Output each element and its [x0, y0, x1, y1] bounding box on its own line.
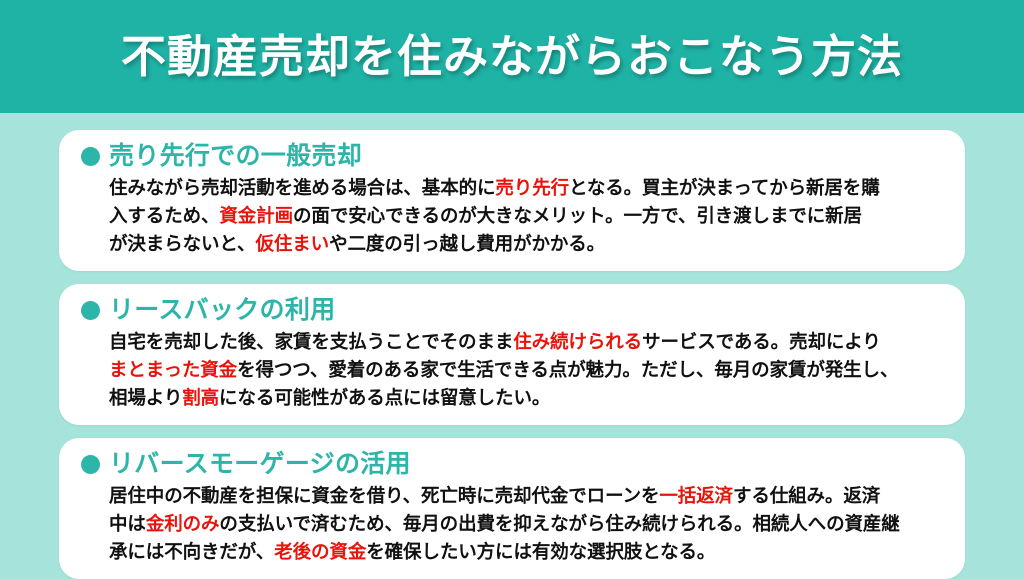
body-line: が決まらないと、仮住まいや二度の引っ越し費用がかかる。 [109, 230, 943, 258]
section-heading: リースバックの利用 [81, 296, 943, 325]
section-card: リバースモーゲージの活用居住中の不動産を担保に資金を借り、死亡時に売却代金でロー… [59, 438, 965, 579]
body-text-run: となる。買主が決まってから新居を購 [569, 177, 880, 198]
body-line: 自宅を売却した後、家賃を支払うことでそのまま住み続けられるサービスである。売却に… [109, 328, 943, 356]
body-text-run: の面で安心できるのが大きなメリット。一方で、引き渡しまでに新居 [293, 205, 862, 226]
body-text-run: する仕組み。返済 [733, 485, 880, 506]
body-text-run: 相場より [109, 387, 182, 408]
body-text-run: になる可能性がある点には留意したい。 [219, 387, 550, 408]
body-line: まとまった資金を得つつ、愛着のある家で生活できる点が魅力。ただし、毎月の家賃が発… [109, 356, 943, 384]
section-card: 売り先行での一般売却住みながら売却活動を進める場合は、基本的に売り先行となる。買… [59, 130, 965, 271]
title-banner: 不動産売却を住みながらおこなう方法 [0, 0, 1024, 113]
slide-root: 不動産売却を住みながらおこなう方法 売り先行での一般売却住みながら売却活動を進め… [0, 0, 1024, 572]
sections-container: 売り先行での一般売却住みながら売却活動を進める場合は、基本的に売り先行となる。買… [0, 113, 1024, 572]
body-text-run: 居住中の不動産を担保に資金を借り、死亡時に売却代金でローンを [109, 485, 659, 506]
body-text-run: 住みながら売却活動を進める場合は、基本的に [109, 177, 495, 198]
body-text-run: の支払いで済むため、毎月の出費を抑えながら住み続けられる。相続人への資産継 [219, 513, 899, 534]
body-line: 中は金利のみの支払いで済むため、毎月の出費を抑えながら住み続けられる。相続人への… [109, 510, 943, 538]
body-line: 相場より割高になる可能性がある点には留意したい。 [109, 384, 943, 412]
page-title: 不動産売却を住みながらおこなう方法 [121, 34, 903, 79]
section-body-text: 住みながら売却活動を進める場合は、基本的に売り先行となる。買主が決まってから新居… [81, 174, 943, 258]
body-text-run: 中は [109, 513, 146, 534]
section-heading-label: リバースモーゲージの活用 [109, 450, 411, 479]
highlighted-term: 一括返済 [659, 485, 733, 506]
filled-circle-icon [81, 301, 100, 320]
highlighted-term: 老後の資金 [274, 541, 366, 562]
filled-circle-icon [81, 147, 100, 166]
section-body-text: 居住中の不動産を担保に資金を借り、死亡時に売却代金でローンを一括返済する仕組み。… [81, 482, 943, 566]
body-text-run: 承には不向きだが、 [109, 541, 274, 562]
body-text-run: を確保したい方には有効な選択肢となる。 [366, 541, 715, 562]
body-text-run: が決まらないと、 [109, 233, 255, 254]
body-text-run: 入するため、 [109, 205, 219, 226]
highlighted-term: まとまった資金 [109, 359, 237, 380]
filled-circle-icon [81, 455, 100, 474]
section-heading-label: 売り先行での一般売却 [109, 142, 362, 171]
body-line: 居住中の不動産を担保に資金を借り、死亡時に売却代金でローンを一括返済する仕組み。… [109, 482, 943, 510]
body-text-run: サービスである。売却により [642, 331, 881, 352]
highlighted-term: 住み続けられる [513, 331, 642, 352]
body-text-run: や二度の引っ越し費用がかかる。 [329, 233, 605, 254]
highlighted-term: 売り先行 [495, 177, 569, 198]
section-heading: 売り先行での一般売却 [81, 142, 943, 171]
section-heading-label: リースバックの利用 [109, 296, 335, 325]
body-line: 承には不向きだが、老後の資金を確保したい方には有効な選択肢となる。 [109, 538, 943, 566]
highlighted-term: 割高 [182, 387, 219, 408]
highlighted-term: 金利のみ [146, 513, 220, 534]
section-card: リースバックの利用自宅を売却した後、家賃を支払うことでそのまま住み続けられるサー… [59, 284, 965, 425]
body-text-run: 自宅を売却した後、家賃を支払うことでそのまま [109, 331, 513, 352]
section-body-text: 自宅を売却した後、家賃を支払うことでそのまま住み続けられるサービスである。売却に… [81, 328, 943, 412]
section-heading: リバースモーゲージの活用 [81, 450, 943, 479]
body-text-run: を得つつ、愛着のある家で生活できる点が魅力。ただし、毎月の家賃が発生し、 [237, 359, 898, 380]
highlighted-term: 資金計画 [219, 205, 293, 226]
highlighted-term: 仮住まい [255, 233, 329, 254]
body-line: 入するため、資金計画の面で安心できるのが大きなメリット。一方で、引き渡しまでに新… [109, 202, 943, 230]
body-line: 住みながら売却活動を進める場合は、基本的に売り先行となる。買主が決まってから新居… [109, 174, 943, 202]
